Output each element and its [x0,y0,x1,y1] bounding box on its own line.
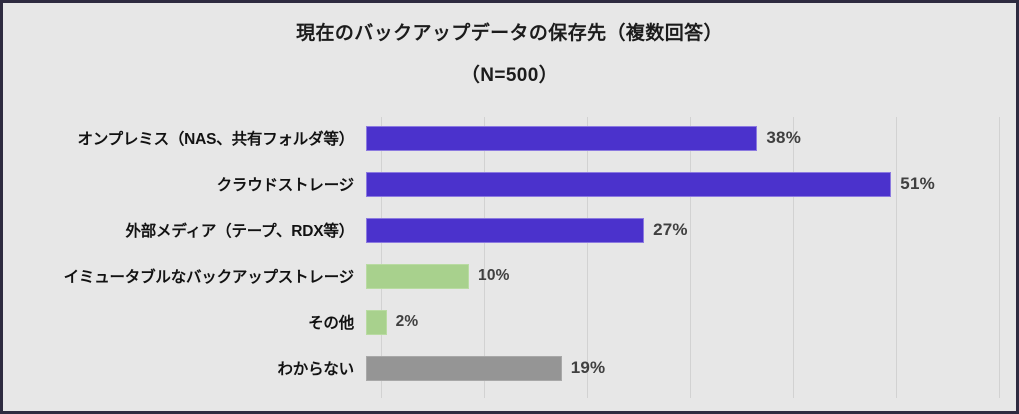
bar-track: 51% [366,161,1016,207]
bar-track: 38% [366,115,1016,161]
category-label: 外部メディア（テープ、RDX等） [3,219,366,241]
bar-rows: オンプレミス（NAS、共有フォルダ等）38%クラウドストレージ51%外部メディア… [3,115,1016,400]
bar[interactable] [366,126,757,151]
bar-value-label: 38% [766,128,801,148]
plot-area: オンプレミス（NAS、共有フォルダ等）38%クラウドストレージ51%外部メディア… [3,115,1016,400]
category-label: クラウドストレージ [3,173,366,195]
bar-row: クラウドストレージ51% [3,161,1016,207]
bar-track: 2% [366,299,1016,345]
bar-track: 10% [366,253,1016,299]
bar-value-label: 19% [571,358,606,378]
bar-row: わからない19% [3,345,1016,391]
bar[interactable] [366,310,387,335]
category-label: イミュータブルなバックアップストレージ [3,265,366,287]
bar-row: イミュータブルなバックアップストレージ10% [3,253,1016,299]
page-title: 現在のバックアップデータの保存先（複数回答） [3,21,1016,47]
bar-value-label: 27% [653,220,688,240]
bar-row: オンプレミス（NAS、共有フォルダ等）38% [3,115,1016,161]
bar-value-label: 2% [396,313,419,331]
chart-title-block: 現在のバックアップデータの保存先（複数回答） （N=500） [3,21,1016,89]
bar-track: 27% [366,207,1016,253]
bar-row: 外部メディア（テープ、RDX等）27% [3,207,1016,253]
bar[interactable] [366,356,562,381]
bar-value-label: 51% [900,174,935,194]
category-label: わからない [3,357,366,379]
chart-subtitle: （N=500） [3,63,1016,89]
bar[interactable] [366,218,644,243]
bar[interactable] [366,264,469,289]
category-label: オンプレミス（NAS、共有フォルダ等） [3,127,366,149]
bar-track: 19% [366,345,1016,391]
chart-container: 現在のバックアップデータの保存先（複数回答） （N=500） オンプレミス（NA… [3,3,1016,411]
bar[interactable] [366,172,891,197]
bar-row: その他2% [3,299,1016,345]
category-label: その他 [3,311,366,333]
bar-value-label: 10% [478,267,510,285]
